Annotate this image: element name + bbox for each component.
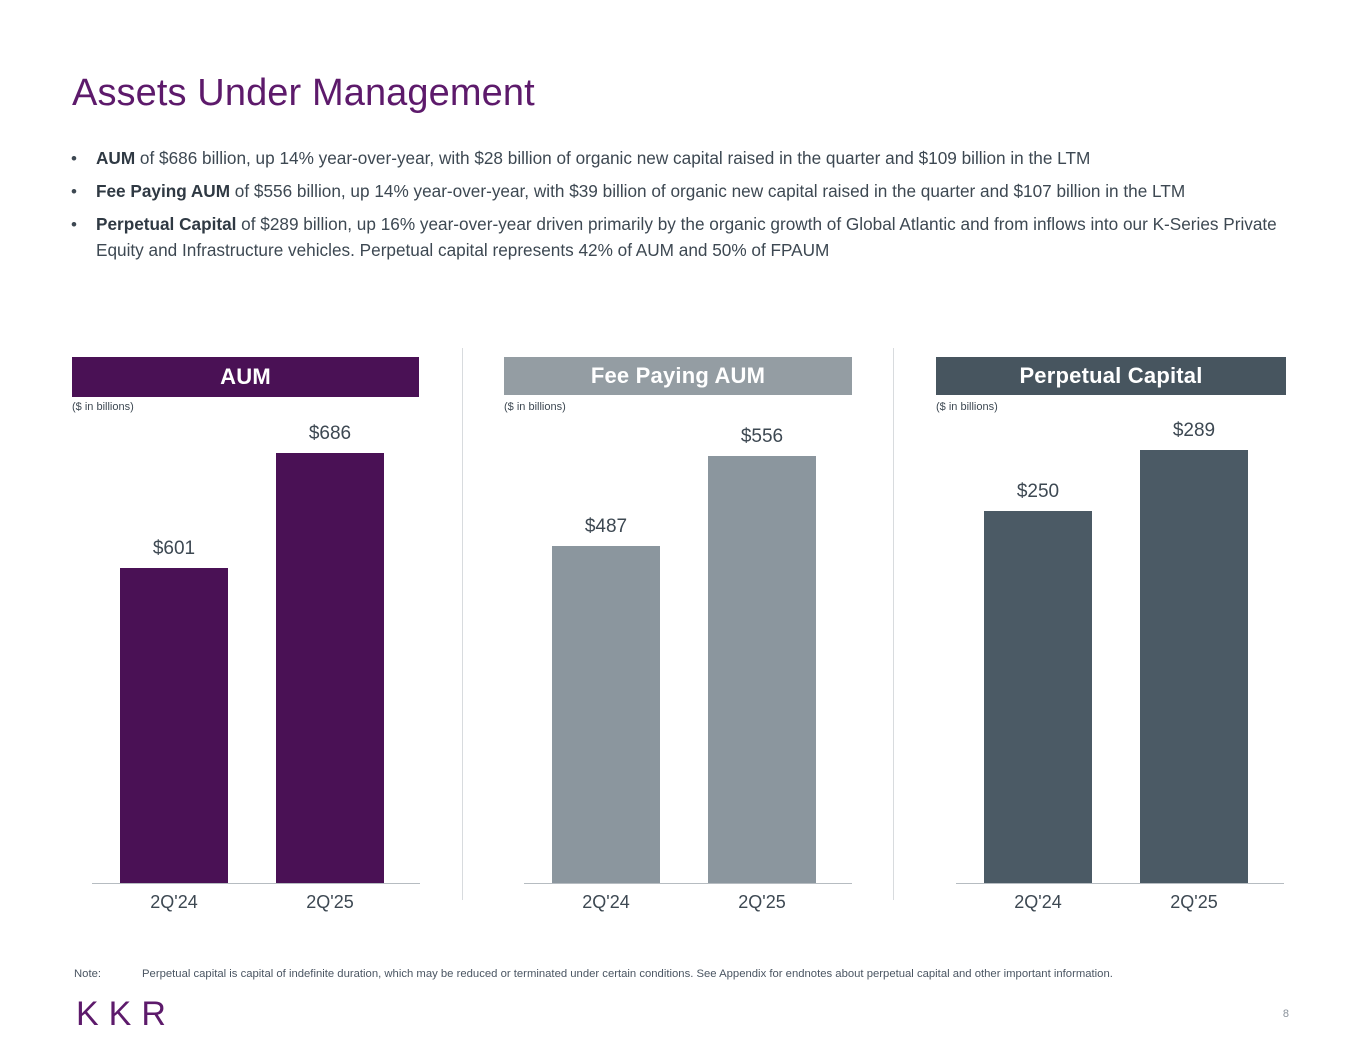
bullet-marker-icon: •	[66, 179, 96, 205]
page-title: Assets Under Management	[72, 73, 535, 115]
chart-panel-fee-paying-aum: Fee Paying AUM ($ in billions) $487 2Q'2…	[504, 340, 854, 920]
footnote-label: Note:	[74, 968, 142, 980]
bullet-text: Fee Paying AUM of $556 billion, up 14% y…	[96, 179, 1278, 205]
footnote: Note: Perpetual capital is capital of in…	[74, 968, 1113, 980]
bar-value-perpetual-2q25: $289	[1124, 420, 1264, 442]
bullet-marker-icon: •	[66, 212, 96, 238]
bar-value-fpaum-2q24: $487	[536, 516, 676, 538]
x-axis-line	[956, 883, 1284, 884]
category-label-fpaum-2q25: 2Q'25	[692, 892, 832, 913]
bar-fpaum-2q25	[708, 456, 816, 883]
bar-value-aum-2q24: $601	[104, 538, 244, 560]
page-number: 8	[1283, 1008, 1289, 1020]
bullet-lead: AUM	[96, 148, 135, 168]
footnote-text: Perpetual capital is capital of indefini…	[142, 968, 1113, 980]
category-label-aum-2q25: 2Q'25	[260, 892, 400, 913]
plot-area-fee-paying-aum: $487 2Q'24 $556 2Q'25	[504, 340, 854, 920]
list-item: • AUM of $686 billion, up 14% year-over-…	[66, 146, 1278, 172]
chart-panel-aum: AUM ($ in billions) $601 2Q'24 $686 2Q'2…	[72, 340, 422, 920]
panel-divider	[462, 348, 463, 900]
category-label-aum-2q24: 2Q'24	[104, 892, 244, 913]
bullet-marker-icon: •	[66, 146, 96, 172]
bullet-lead: Fee Paying AUM	[96, 181, 230, 201]
bar-value-fpaum-2q25: $556	[692, 426, 832, 448]
bullet-body: of $686 billion, up 14% year-over-year, …	[135, 148, 1090, 168]
list-item: • Perpetual Capital of $289 billion, up …	[66, 212, 1278, 263]
bullet-list: • AUM of $686 billion, up 14% year-over-…	[66, 146, 1278, 270]
x-axis-line	[92, 883, 420, 884]
plot-area-aum: $601 2Q'24 $686 2Q'25	[72, 340, 422, 920]
charts-region: AUM ($ in billions) $601 2Q'24 $686 2Q'2…	[0, 340, 1365, 920]
bar-aum-2q25	[276, 453, 384, 883]
bar-value-perpetual-2q24: $250	[968, 481, 1108, 503]
bullet-body: of $556 billion, up 14% year-over-year, …	[230, 181, 1185, 201]
kkr-logo: KKR	[76, 994, 176, 1034]
bar-aum-2q24	[120, 568, 228, 883]
bar-fpaum-2q24	[552, 546, 660, 883]
bullet-lead: Perpetual Capital	[96, 214, 236, 234]
bullet-text: Perpetual Capital of $289 billion, up 16…	[96, 212, 1278, 263]
bar-value-aum-2q25: $686	[260, 423, 400, 445]
list-item: • Fee Paying AUM of $556 billion, up 14%…	[66, 179, 1278, 205]
category-label-fpaum-2q24: 2Q'24	[536, 892, 676, 913]
panel-divider	[893, 348, 894, 900]
plot-area-perpetual-capital: $250 2Q'24 $289 2Q'25	[936, 340, 1286, 920]
bar-perpetual-2q24	[984, 511, 1092, 883]
category-label-perpetual-2q25: 2Q'25	[1124, 892, 1264, 913]
bullet-body: of $289 billion, up 16% year-over-year d…	[96, 214, 1277, 260]
chart-panel-perpetual-capital: Perpetual Capital ($ in billions) $250 2…	[936, 340, 1286, 920]
category-label-perpetual-2q24: 2Q'24	[968, 892, 1108, 913]
bar-perpetual-2q25	[1140, 450, 1248, 883]
bullet-text: AUM of $686 billion, up 14% year-over-ye…	[96, 146, 1278, 172]
x-axis-line	[524, 883, 852, 884]
